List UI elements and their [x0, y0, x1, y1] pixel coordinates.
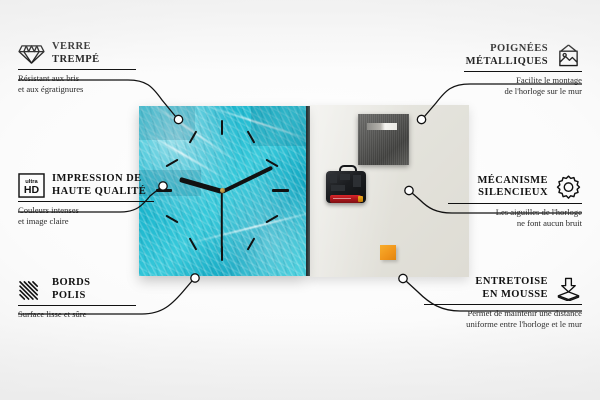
svg-text:HD: HD — [24, 184, 40, 196]
product-image — [139, 105, 469, 277]
feature-title: VERRE TREMPÉ — [52, 41, 100, 66]
feature-title: IMPRESSION DE HAUTE QUALITÉ — [52, 173, 146, 198]
feature-rule — [18, 305, 136, 306]
feature-rule — [464, 71, 582, 72]
foam-spacer — [380, 245, 396, 260]
second-hand — [221, 191, 223, 253]
feature-rule — [424, 304, 582, 305]
feature-title: MÉCANISME SILENCIEUX — [477, 175, 548, 200]
feature-entretoise-en-mousse[interactable]: ENTRETOISE EN MOUSSE Permet de maintenir… — [410, 276, 582, 329]
feature-subtitle: Couleurs intenses et image claire — [18, 205, 168, 226]
metal-grain — [358, 114, 409, 165]
clock-mechanism — [326, 165, 366, 203]
ultra-hd-icon: ultra HD — [18, 173, 45, 198]
picture-hanger-icon — [555, 44, 582, 68]
feature-subtitle: Permet de maintenir une distance uniform… — [410, 308, 582, 329]
feature-subtitle: Les aiguilles de l'horloge ne font aucun… — [434, 207, 582, 228]
feature-subtitle: Facilite le montage de l'horloge sur le … — [450, 75, 582, 96]
feature-header: BORDS POLIS — [18, 277, 150, 302]
feature-header: ultra HD IMPRESSION DE HAUTE QUALITÉ — [18, 173, 168, 198]
diamond-icon — [18, 43, 45, 65]
feature-title: BORDS POLIS — [52, 277, 90, 302]
feature-subtitle: Surface lisse et sûre — [18, 309, 150, 319]
feature-header: VERRE TREMPÉ — [18, 41, 150, 66]
feature-rule — [18, 69, 136, 70]
hands-pivot — [220, 188, 225, 193]
feature-poignees-metalliques[interactable]: POIGNÉES MÉTALLIQUES Facilite le montage… — [450, 43, 582, 96]
feature-title: ENTRETOISE EN MOUSSE — [475, 276, 548, 301]
feature-bords-polis[interactable]: BORDS POLIS Surface lisse et sûre — [18, 277, 150, 320]
feature-title: POIGNÉES MÉTALLIQUES — [466, 43, 548, 68]
feature-rule — [18, 201, 154, 202]
metal-handle-slot — [367, 123, 397, 130]
tick-12 — [221, 120, 223, 135]
mechanism-body — [326, 171, 366, 203]
polished-edge-icon — [18, 279, 45, 301]
metal-handle — [358, 114, 409, 165]
foam-spacer-icon — [555, 277, 582, 301]
tick-3 — [272, 189, 289, 192]
feature-subtitle: Résistant aux bris et aux égratignures — [18, 73, 150, 94]
battery — [330, 195, 361, 203]
feature-impression-haute-qualite[interactable]: ultra HD IMPRESSION DE HAUTE QUALITÉ Cou… — [18, 173, 168, 226]
feature-rule — [448, 203, 582, 204]
gear-icon — [555, 174, 582, 200]
feature-header: POIGNÉES MÉTALLIQUES — [450, 43, 582, 68]
feature-mecanisme-silencieux[interactable]: MÉCANISME SILENCIEUX Les aiguilles de l'… — [434, 174, 582, 228]
feature-verre-trempe[interactable]: VERRE TREMPÉ Résistant aux bris et aux é… — [18, 41, 150, 94]
feature-header: MÉCANISME SILENCIEUX — [434, 174, 582, 200]
feature-header: ENTRETOISE EN MOUSSE — [410, 276, 582, 301]
infographic-canvas: VERRE TREMPÉ Résistant aux bris et aux é… — [0, 0, 600, 400]
